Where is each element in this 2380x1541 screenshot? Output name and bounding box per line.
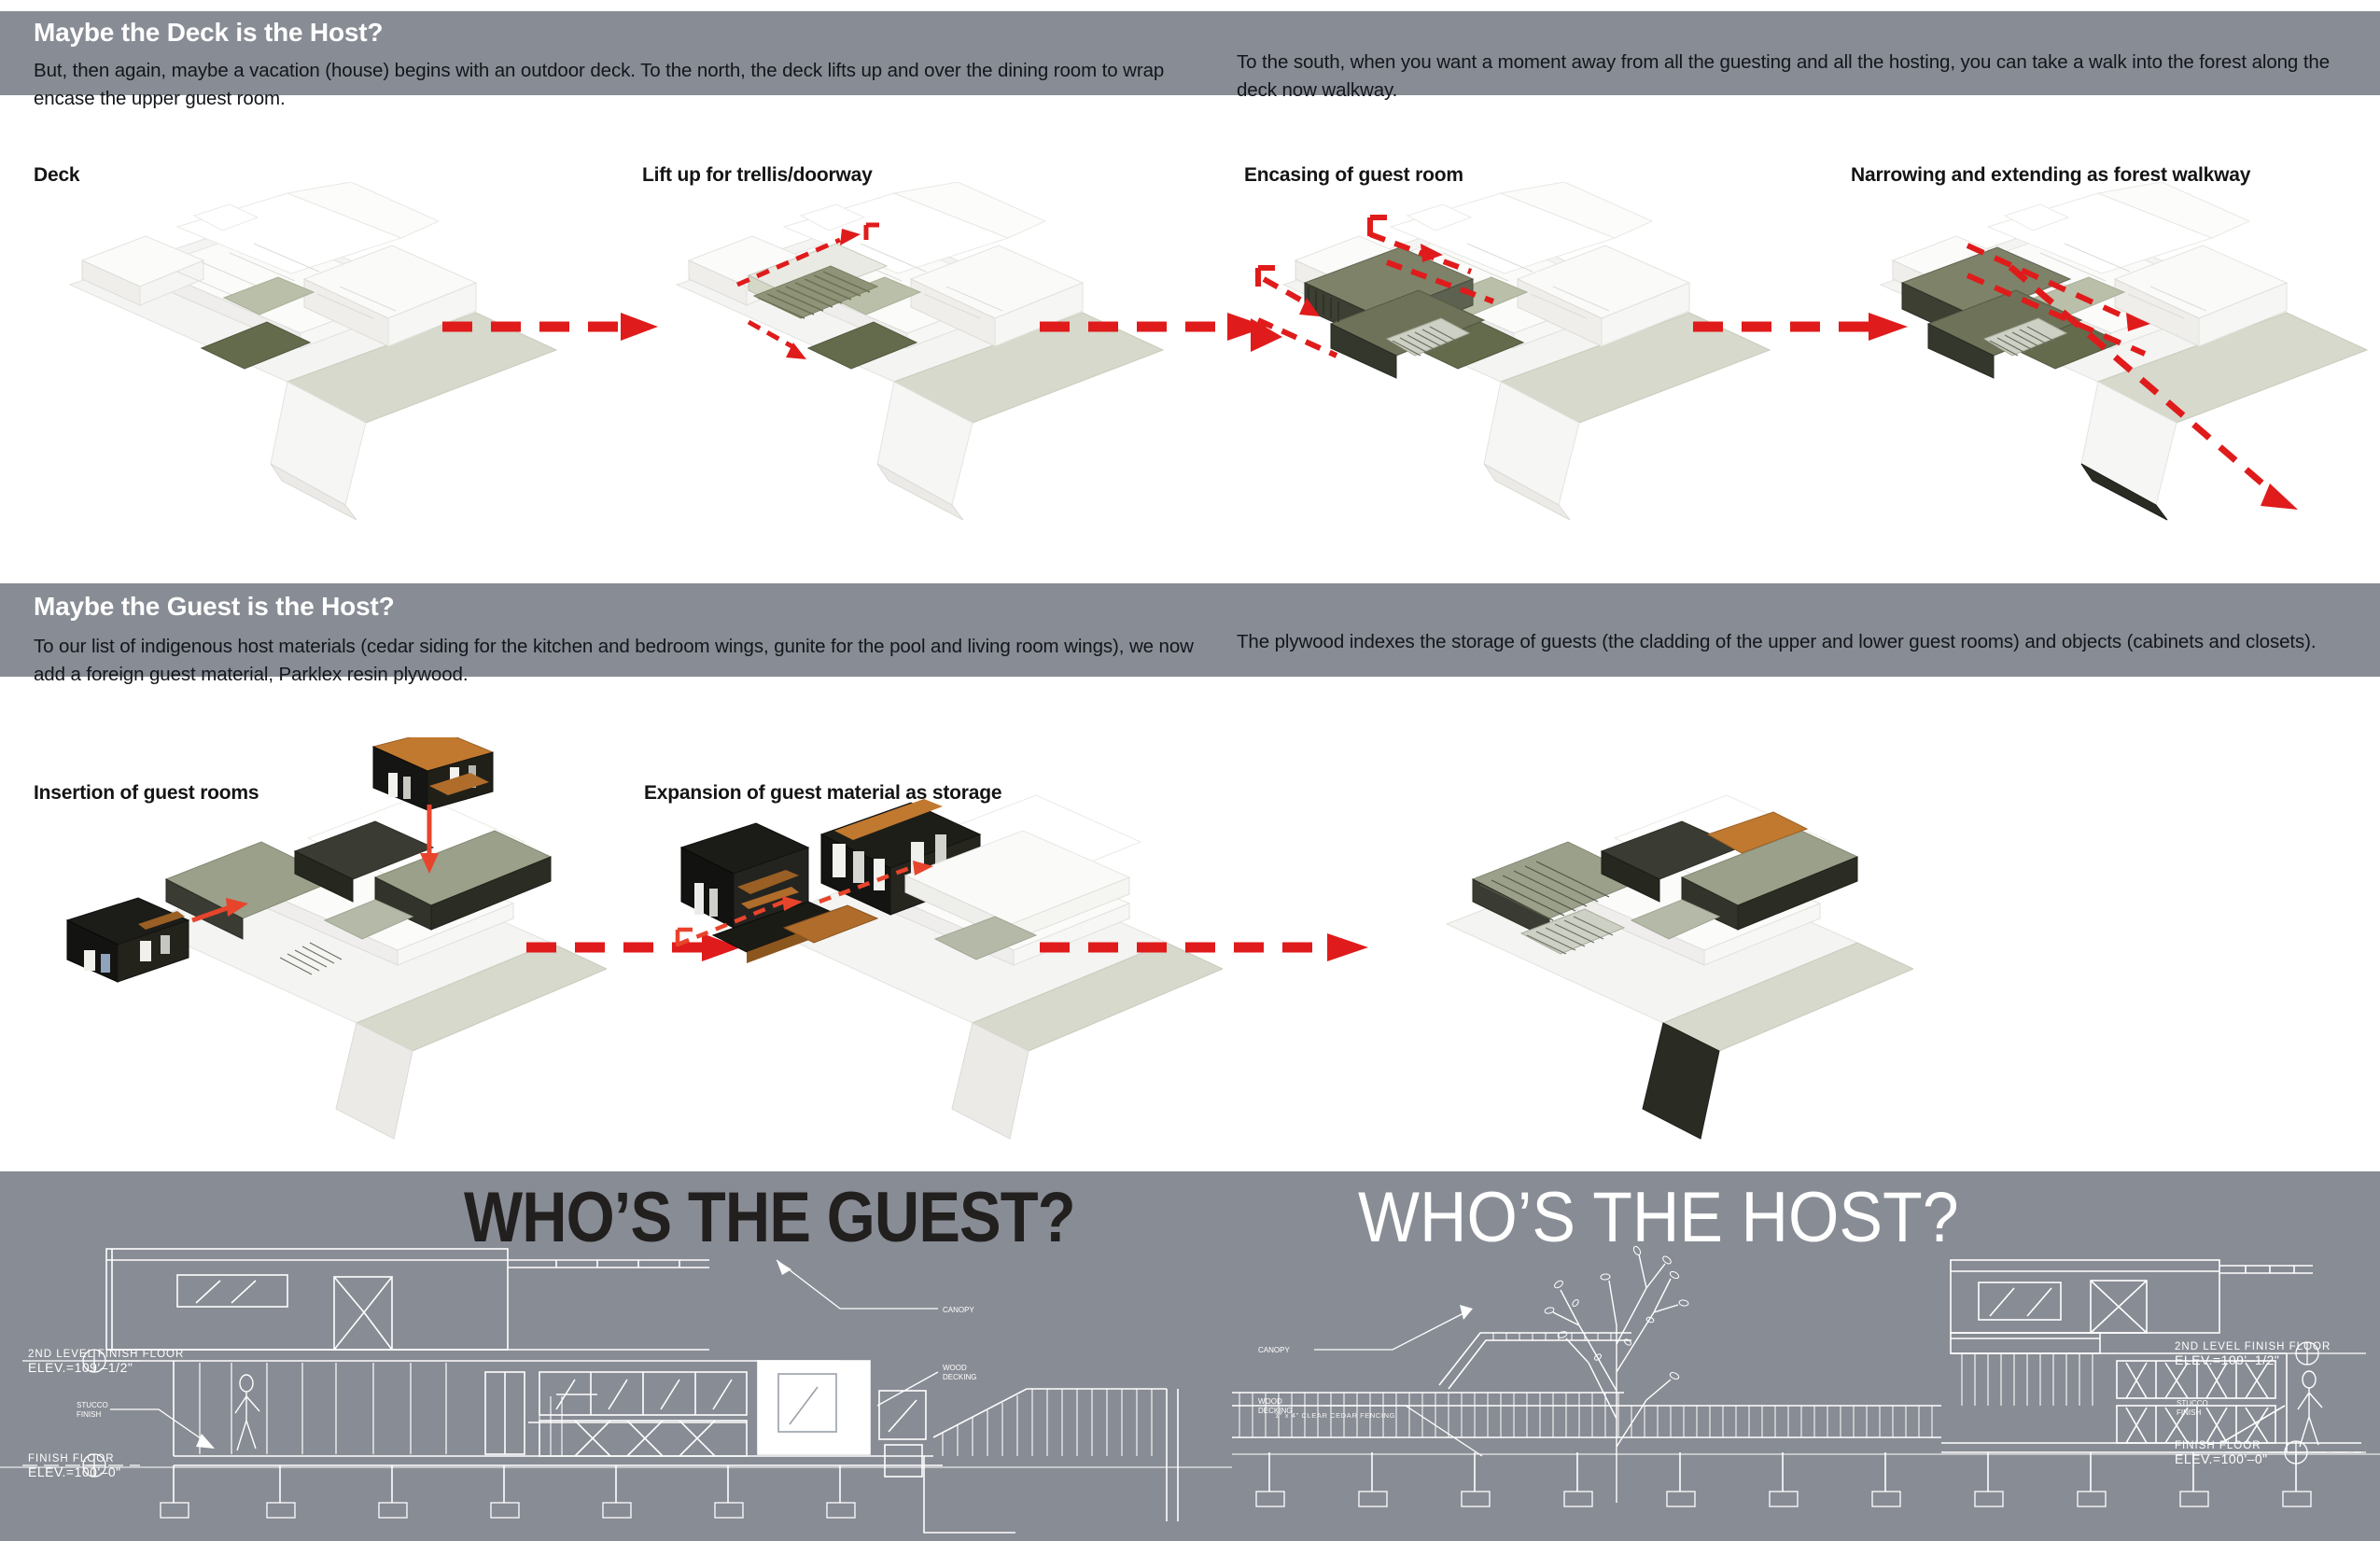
axon-insertion-guest-rooms (28, 737, 607, 1167)
section-drawing-host: 2ND LEVEL FINISH FLOOR ELEV.=109'–1/2" F… (1232, 1223, 2380, 1541)
annotation-right-2nd-level-line2: ELEV.=109'–1/2" (2175, 1352, 2279, 1367)
presentation-board: Maybe the Deck is the Host? But, then ag… (0, 0, 2380, 1541)
axon-encasing (1251, 182, 1829, 555)
annotation-wood-decking-line2: DECKING (943, 1373, 976, 1381)
annotation-2nd-level-finish-floor-line2: ELEV.=109'–1/2" (28, 1360, 133, 1375)
section-drawing-guest: 2ND LEVEL FINISH FLOOR ELEV.=109'–1/2" F… (0, 1223, 1232, 1541)
arrow-connector-forest (2007, 261, 2380, 541)
axon-final-composite (1335, 737, 1913, 1167)
annotation-right-stucco-line2: FINISH (2177, 1408, 2201, 1417)
whos-the-host-title: WHO’S THE HOST? (1358, 1183, 1959, 1254)
annotation-2nd-level-finish-floor-line1: 2ND LEVEL FINISH FLOOR (28, 1349, 184, 1360)
section-1-body-right: To the south, when you want a moment awa… (1237, 49, 2357, 105)
section-2-right-column: The plywood indexes the storage of guest… (1237, 583, 2357, 656)
section-1-heading: Maybe the Deck is the Host? (34, 19, 1200, 48)
section-1-left-column: Maybe the Deck is the Host? But, then ag… (34, 11, 1200, 113)
annotation-right-canopy: CANOPY (1258, 1346, 1290, 1354)
section-1-body-left: But, then again, maybe a vacation (house… (34, 57, 1200, 113)
annotation-right-wood-decking-line1: WOOD (1258, 1397, 1282, 1406)
guest-room-box-upper (373, 737, 493, 810)
annotation-right-finish-floor-line2: ELEV.=100'–0" (2175, 1451, 2268, 1466)
section-2-body-left: To our list of indigenous host materials… (34, 633, 1200, 689)
bottom-banner: 2ND LEVEL FINISH FLOOR ELEV.=109'–1/2" F… (0, 1171, 2380, 1541)
guest-room-box-lower (67, 898, 189, 982)
section-1-text-band: Maybe the Deck is the Host? But, then ag… (0, 11, 2380, 95)
annotation-right-2nd-level-line1: 2ND LEVEL FINISH FLOOR (2175, 1341, 2331, 1352)
annotation-right-stucco-line1: STUCCO (2177, 1399, 2208, 1408)
whos-the-guest-title: WHO’S THE GUEST? (464, 1183, 1075, 1254)
arrow-connector-5 (1036, 929, 1381, 966)
axon-lift-up (644, 182, 1204, 555)
axon-deck (37, 182, 597, 555)
annotation-stucco-line2: FINISH (77, 1410, 101, 1419)
annotation-finish-floor-line1: FINISH FLOOR (28, 1453, 115, 1464)
section-2-body-right: The plywood indexes the storage of guest… (1237, 628, 2357, 656)
annotation-canopy: CANOPY (943, 1306, 974, 1314)
section-2-text-band: Maybe the Guest is the Host? To our list… (0, 583, 2380, 677)
section-2-left-column: Maybe the Guest is the Host? To our list… (34, 583, 1200, 689)
annotation-cedar-fencing: 1" x 4" CLEAR CEDAR FENCING (1275, 1411, 1395, 1420)
section-2-heading: Maybe the Guest is the Host? (34, 593, 1200, 622)
arrow-connector-1 (439, 308, 672, 345)
annotation-stucco-line1: STUCCO (77, 1401, 108, 1409)
annotation-right-finish-floor-line1: FINISH FLOOR (2175, 1440, 2261, 1451)
arrow-connector-2 (1036, 308, 1279, 345)
annotation-wood-decking-line1: WOOD (943, 1364, 967, 1372)
section-1-right-column: To the south, when you want a moment awa… (1237, 11, 2357, 105)
tree-illustration (1544, 1245, 1688, 1503)
annotation-finish-floor-line2: ELEV.=100'–0" (28, 1464, 121, 1479)
